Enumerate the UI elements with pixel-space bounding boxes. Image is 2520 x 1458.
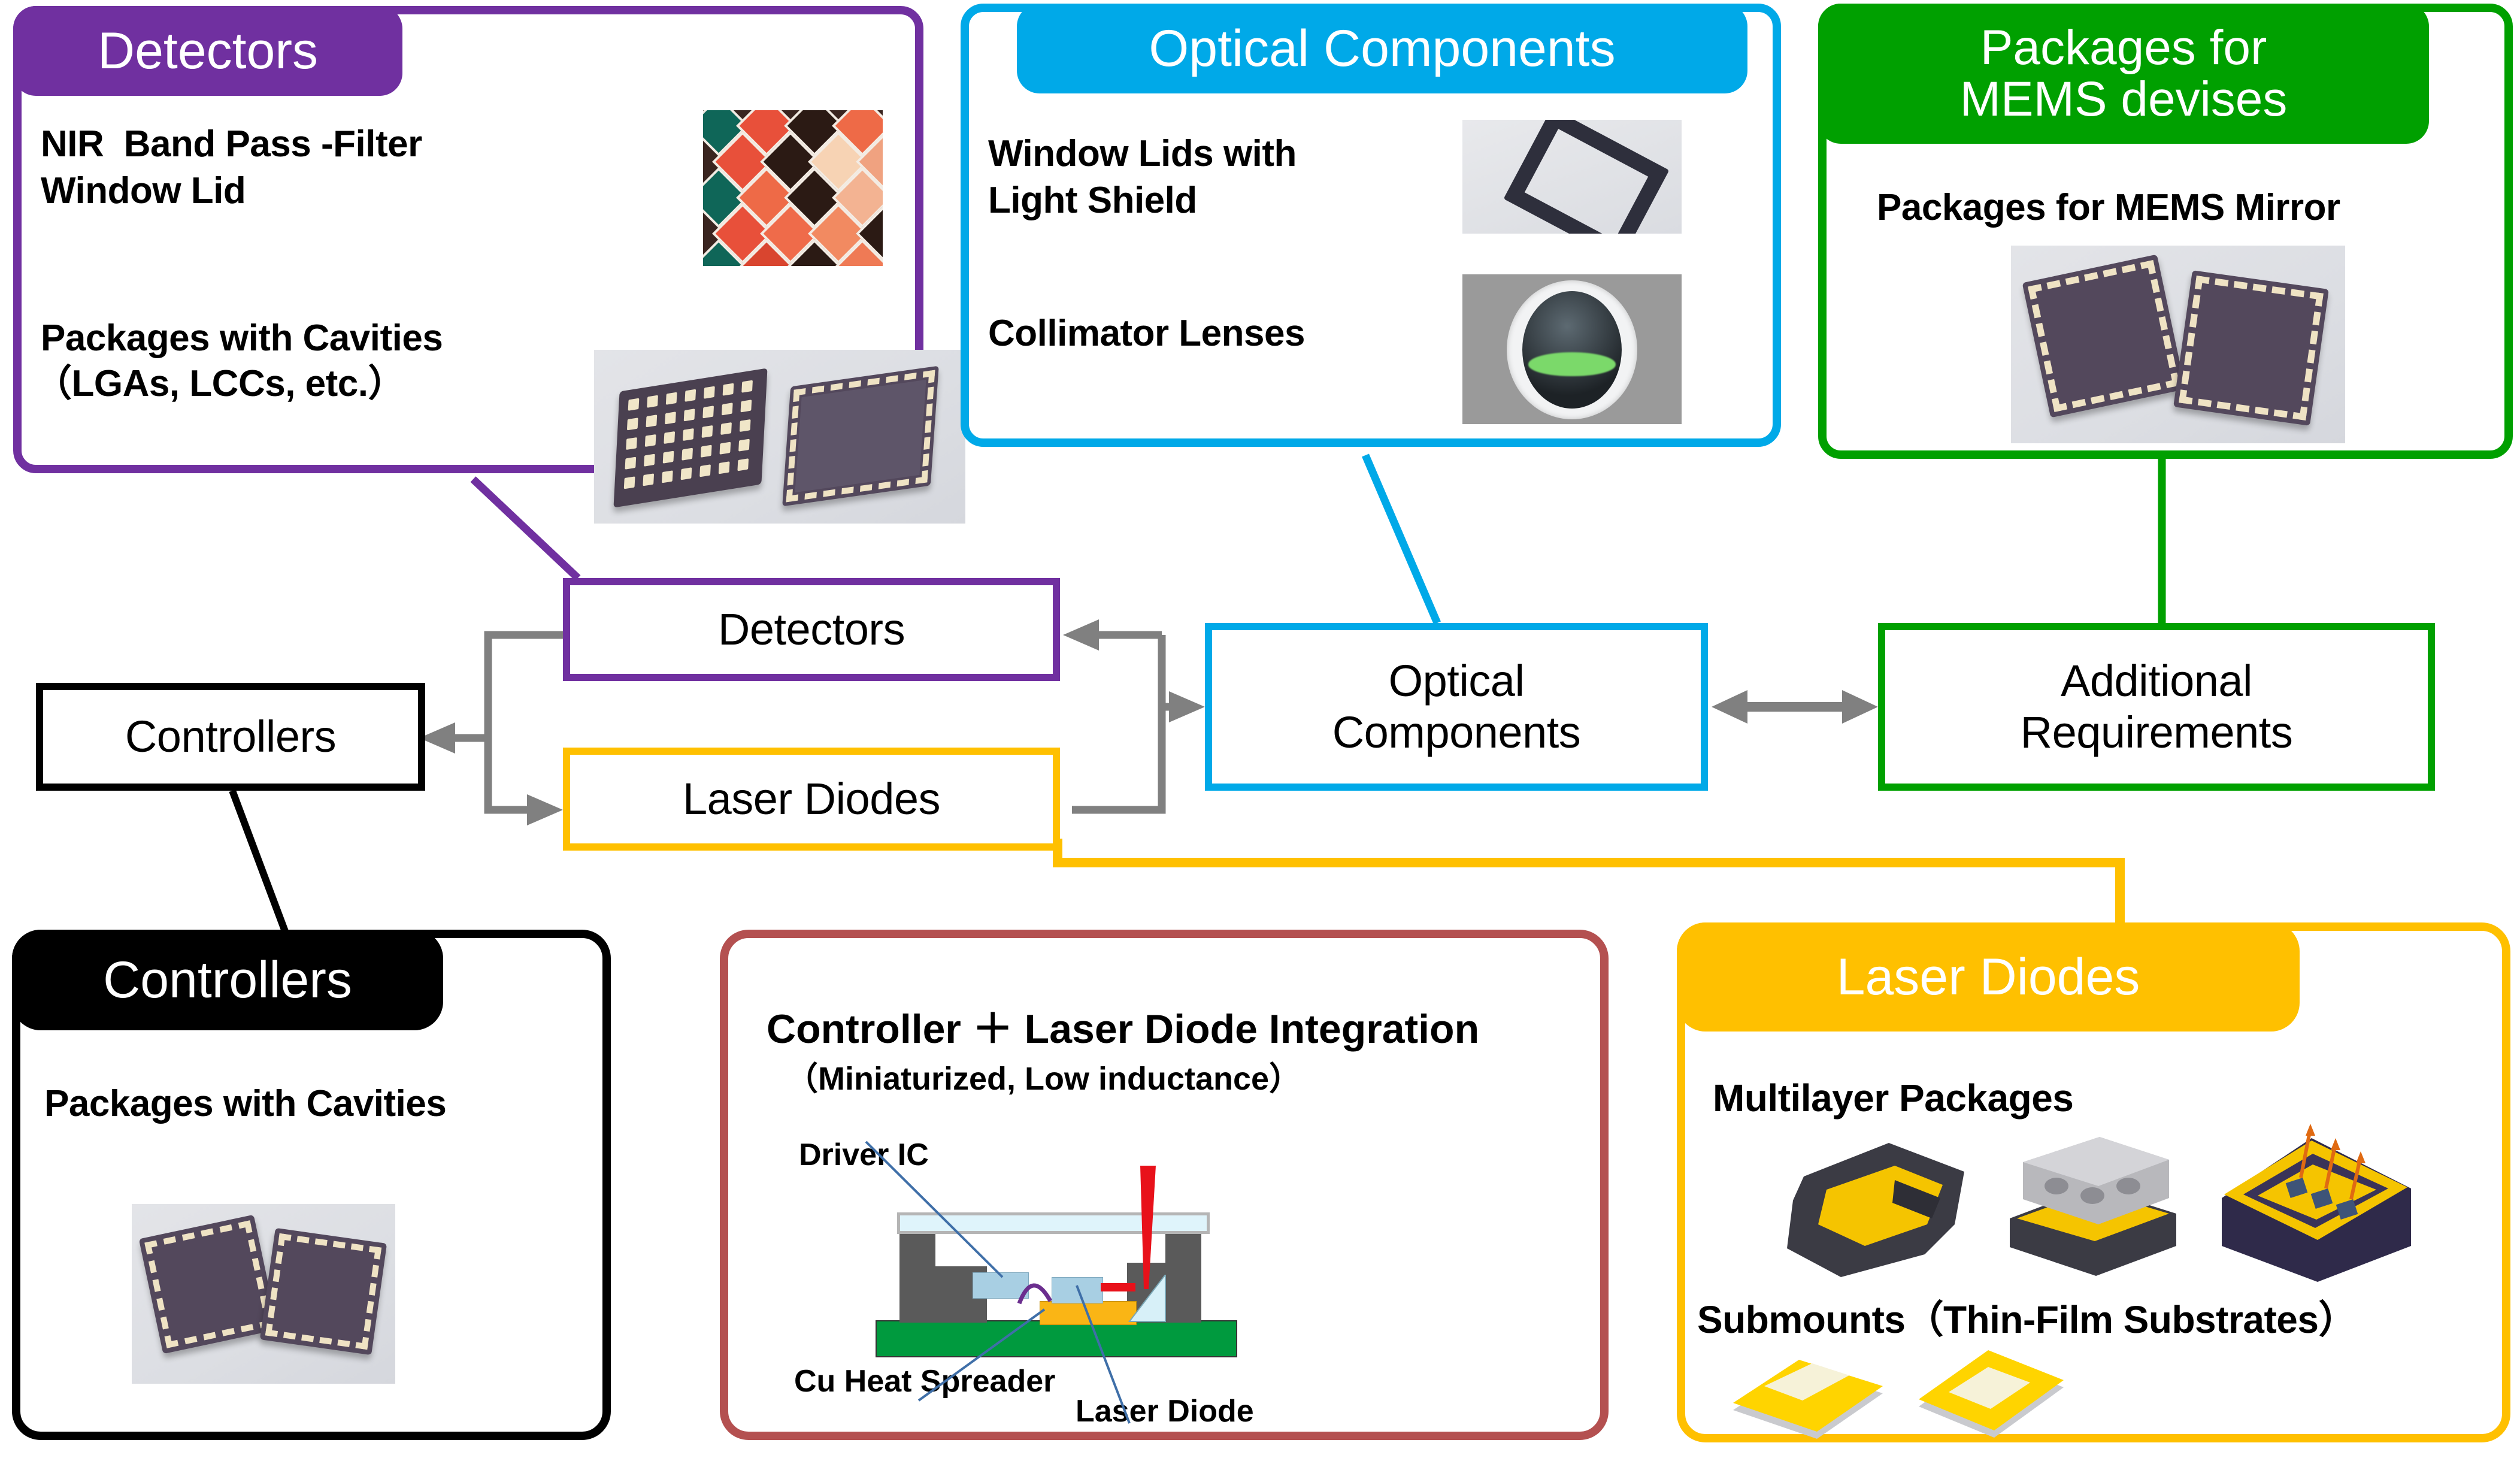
card-mems-title-line1: Packages for [1960,22,2288,74]
lga-lcc-packages-photo [594,350,965,524]
flow-box-laser-diodes[interactable]: Laser Diodes [563,748,1060,851]
mems-mirror-packages-photo [2011,246,2345,443]
flow-box-optical-components[interactable]: Optical Components [1205,623,1708,791]
integration-cross-section-diagram [866,1166,1285,1363]
controller-packages-photo [132,1204,395,1384]
optical-line-2: Light Shield [988,179,1197,222]
controllers-line-1: Packages with Cavities [44,1082,446,1126]
detectors-line-1: NIR Band Pass -Filter [41,122,422,166]
nir-filter-wafer-photo [703,110,883,266]
window-lid-light-shield-photo [1462,120,1682,234]
multilayer-package-art [1775,1129,2458,1290]
flow-box-additional-requirements[interactable]: Additional Requirements [1878,623,2435,791]
integration-title: Controller ＋ Laser Diode Integration [767,996,1479,1055]
flow-box-controllers[interactable]: Controllers [36,683,425,791]
card-detectors: Detectors NIR Band Pass -Filter Window L… [13,6,923,473]
card-laser-diodes: Laser Diodes Multilayer Packages Submoun… [1677,922,2510,1442]
card-optical-title: Optical Components [1017,4,1747,93]
collimator-lens-photo [1462,274,1682,424]
flow-box-detectors[interactable]: Detectors [563,578,1060,681]
detectors-line-3: Packages with Cavities [41,316,443,360]
flow-box-optical-line1: Optical [1332,655,1581,707]
flow-box-additional-line1: Additional [2021,655,2293,707]
flow-box-optical-line2: Components [1332,707,1581,758]
card-mems-packages: Packages for MEMS devises Packages for M… [1818,4,2513,459]
submount-art [1721,1350,2080,1458]
optical-line-1: Window Lids with [988,132,1297,176]
card-integration: Controller ＋ Laser Diode Integration （Mi… [720,930,1609,1440]
detectors-line-4: （LGAs, LCCs, etc.） [35,362,405,406]
card-controllers-title: Controllers [12,930,443,1030]
card-mems-title: Packages for MEMS devises [1818,4,2429,144]
optical-line-3: Collimator Lenses [988,311,1305,355]
card-laser-title: Laser Diodes [1677,922,2300,1032]
laser-line-1: Multilayer Packages [1713,1076,2073,1121]
laser-line-2: Submounts（Thin-Film Substrates） [1697,1297,2357,1343]
mems-line-1: Packages for MEMS Mirror [1877,186,2340,229]
card-optical-components: Optical Components Window Lids with Ligh… [961,4,1781,447]
detectors-line-2: Window Lid [41,169,246,213]
card-mems-title-line2: MEMS devises [1960,74,2288,125]
card-controllers: Controllers Packages with Cavities [12,930,611,1440]
card-detectors-title: Detectors [13,6,402,96]
integration-subtitle: （Miniaturized, Low inductance） [786,1052,1301,1099]
flow-box-additional-line2: Requirements [2021,707,2293,758]
